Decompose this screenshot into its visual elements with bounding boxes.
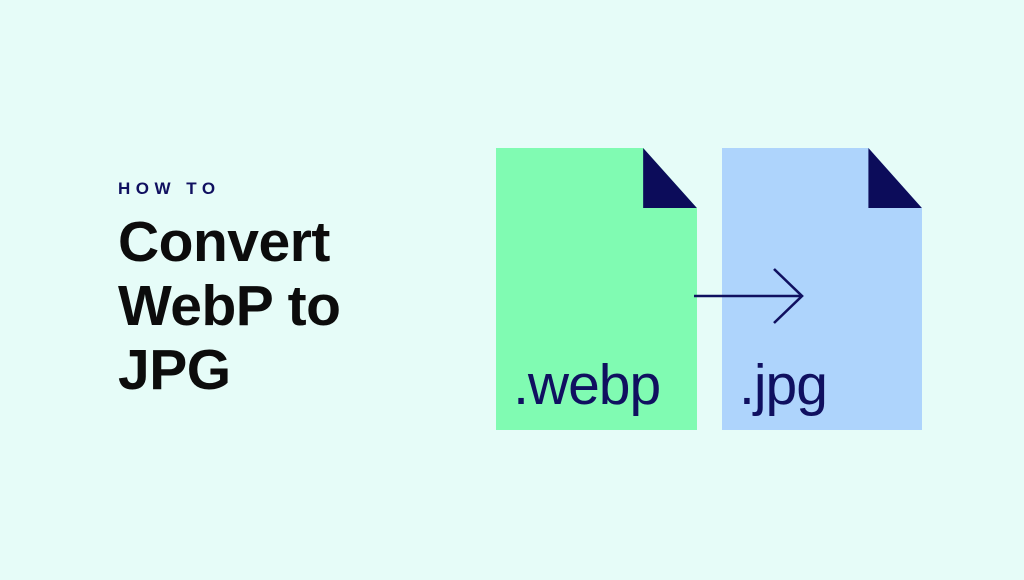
slide-canvas: HOW TO Convert WebP to JPG .webp .jpg [0,0,1024,580]
page-fold-corner-icon [868,148,922,208]
page-fold-corner-icon [643,148,697,208]
target-file-extension-label: .jpg [739,357,827,414]
conversion-arrow-icon [694,266,814,326]
conversion-graphic: .webp .jpg [496,148,922,430]
source-file-extension-label: .webp [513,357,660,414]
source-document-card: .webp [496,148,697,430]
eyebrow-label: HOW TO [118,180,458,197]
text-block: HOW TO Convert WebP to JPG [118,180,458,402]
page-title: Convert WebP to JPG [118,211,458,402]
